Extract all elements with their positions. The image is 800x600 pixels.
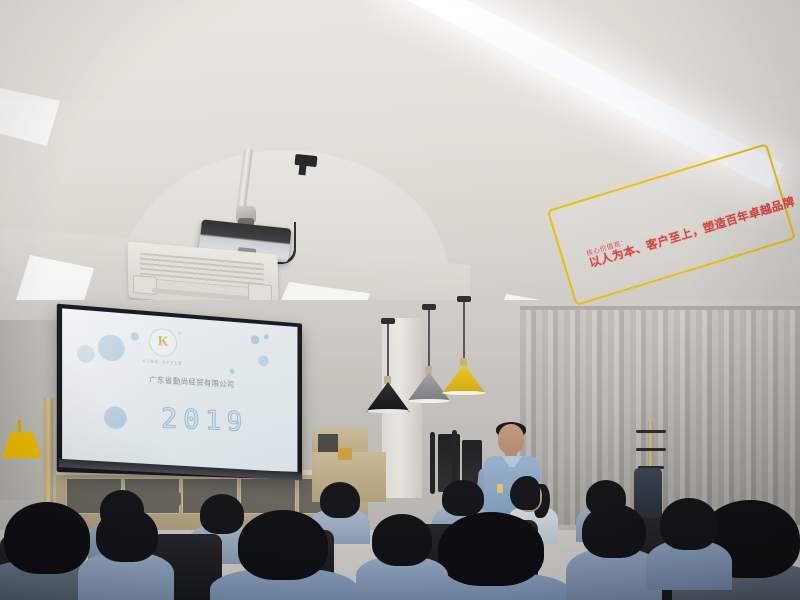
attendee-hair [582, 504, 646, 558]
shelf-cell [240, 478, 296, 514]
shelf-item [338, 448, 352, 460]
pendant-cord [463, 302, 465, 360]
coat-rack-arm [636, 430, 666, 433]
pendant-cord [387, 324, 389, 378]
attendee-hair [96, 508, 158, 562]
coat-rack-arm [636, 448, 666, 451]
attendee-hair [442, 480, 484, 516]
security-camera-mount [298, 164, 306, 176]
shelf-item [168, 492, 181, 506]
attendee-hair [4, 502, 90, 574]
attendee-hair [200, 494, 244, 534]
pendant-rim [366, 409, 410, 413]
shelf-item [252, 496, 262, 506]
attendee-hair [238, 510, 328, 580]
pendant-rim [407, 399, 451, 403]
shelf-compartment [318, 434, 338, 452]
attendee-hair [438, 512, 544, 586]
presenter-badge [497, 484, 503, 493]
pendant-rim [442, 391, 486, 395]
attendee-hair [320, 482, 360, 518]
attendee-hair [660, 498, 718, 550]
lamp-stem [18, 420, 21, 434]
pendant-cord [428, 310, 430, 368]
mic-stand [430, 432, 435, 494]
wooden-post [44, 398, 53, 506]
projection-screen: K ® KING STYLE 广东省勤尚经贸有限公司 2019 [62, 308, 297, 472]
screen-glare [62, 308, 297, 472]
attendee-hair [510, 476, 540, 510]
attendee-hair [372, 514, 432, 566]
photo-scene: 核心价值观： 以人为本、客户至上，塑造百年卓越品牌 [0, 0, 800, 600]
